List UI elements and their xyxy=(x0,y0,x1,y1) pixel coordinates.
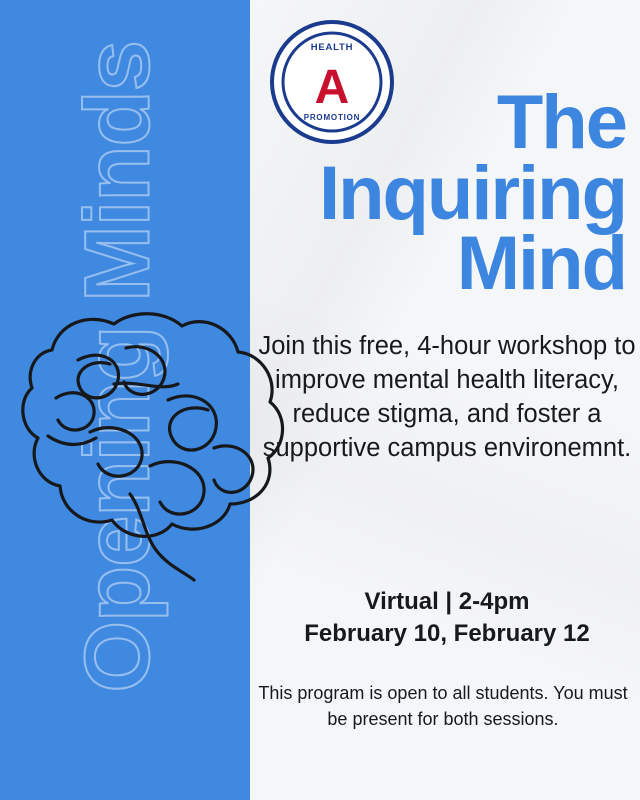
poster: Opening Minds HEALTH A PROMOT xyxy=(0,0,640,800)
description-text: Join this free, 4-hour workshop to impro… xyxy=(256,330,638,466)
title-line-3: Mind xyxy=(250,229,626,300)
event-time: Virtual | 2-4pm xyxy=(256,586,638,618)
event-details: Virtual | 2-4pm February 10, February 12 xyxy=(256,586,638,649)
eligibility-note: This program is open to all students. Yo… xyxy=(248,680,638,732)
svg-text:HEALTH: HEALTH xyxy=(311,42,354,53)
title-line-2: Inquiring xyxy=(250,159,626,230)
event-dates: February 10, February 12 xyxy=(256,618,638,650)
page-title: The Inquiring Mind xyxy=(250,88,634,300)
title-line-1: The xyxy=(250,88,626,159)
